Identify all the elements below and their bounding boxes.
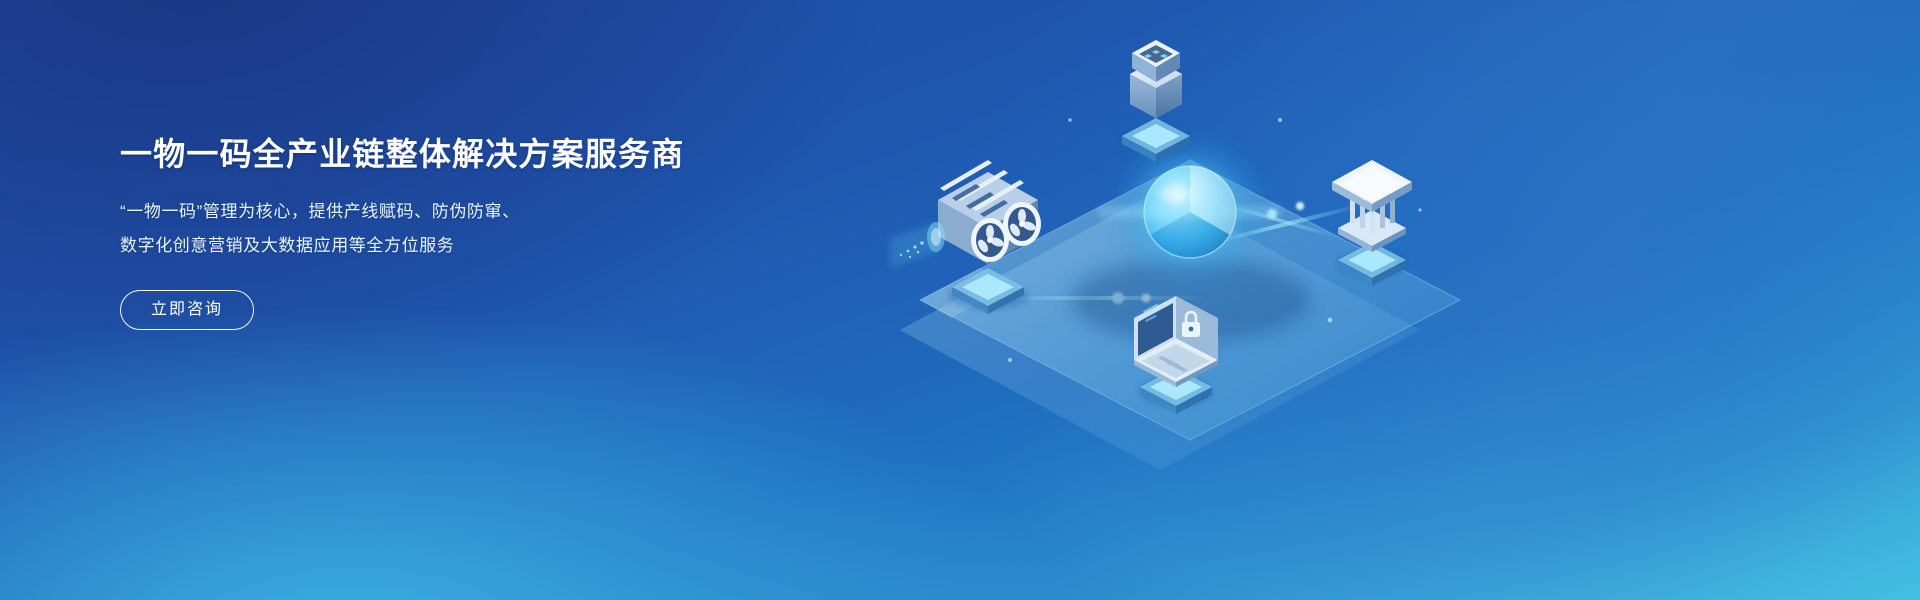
subtitle-block: “一物一码”管理为核心，提供产线赋码、防伪防窜、 数字化创意营销及大数据应用等全… (120, 195, 820, 263)
pos-terminal-icon (1122, 40, 1190, 162)
laptop-lock-icon (1134, 296, 1218, 414)
hero-banner: 一物一码全产业链整体解决方案服务商 “一物一码”管理为核心，提供产线赋码、防伪防… (0, 0, 1920, 600)
fan-icon-2 (1003, 202, 1041, 246)
subtitle-line-2: 数字化创意营销及大数据应用等全方位服务 (120, 229, 820, 263)
bank-building-icon (1332, 160, 1412, 286)
scanner-beam (890, 222, 945, 268)
server-fan-rack-icon (890, 160, 1041, 314)
consult-now-button[interactable]: 立即咨询 (120, 290, 254, 330)
page-title: 一物一码全产业链整体解决方案服务商 (120, 132, 820, 176)
isometric-illustration (860, 0, 1520, 600)
hero-content: 一物一码全产业链整体解决方案服务商 “一物一码”管理为核心，提供产线赋码、防伪防… (120, 132, 820, 330)
subtitle-line-1: “一物一码”管理为核心，提供产线赋码、防伪防窜、 (120, 195, 820, 229)
